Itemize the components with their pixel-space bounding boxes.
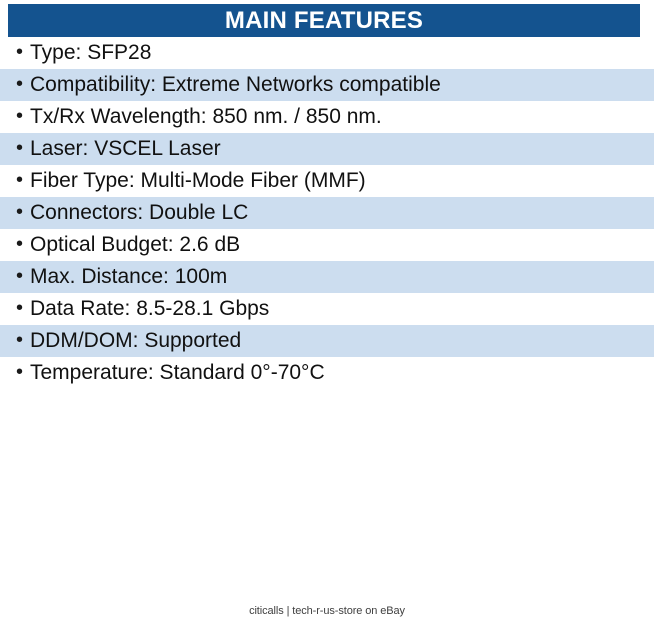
bullet-icon: • xyxy=(16,202,30,222)
feature-row-label: Temperature: Standard 0°-70°C xyxy=(30,361,325,385)
bullet-icon: • xyxy=(16,74,30,94)
feature-row-label: Laser: VSCEL Laser xyxy=(30,137,221,161)
bullet-icon: • xyxy=(16,362,30,382)
feature-row-label: Connectors: Double LC xyxy=(30,201,248,225)
feature-row: •Fiber Type: Multi-Mode Fiber (MMF) xyxy=(0,165,654,197)
bullet-icon: • xyxy=(16,106,30,126)
footer-store-credit: citicalls | tech-r-us-store on eBay xyxy=(249,604,405,618)
features-sheet: MAIN FEATURES •Type: SFP28•Compatibility… xyxy=(0,0,654,625)
page-title: MAIN FEATURES xyxy=(225,9,423,33)
bullet-icon: • xyxy=(16,266,30,286)
bullet-icon: • xyxy=(16,170,30,190)
feature-row: •Optical Budget: 2.6 dB xyxy=(0,229,654,261)
feature-row-label: Compatibility: Extreme Networks compatib… xyxy=(30,73,441,97)
bullet-icon: • xyxy=(16,298,30,318)
feature-row-label: Max. Distance: 100m xyxy=(30,265,227,289)
feature-row: •Laser: VSCEL Laser xyxy=(0,133,654,165)
bullet-icon: • xyxy=(16,330,30,350)
feature-row: •Compatibility: Extreme Networks compati… xyxy=(0,69,654,101)
feature-row-label: Fiber Type: Multi-Mode Fiber (MMF) xyxy=(30,169,366,193)
feature-row-label: Data Rate: 8.5-28.1 Gbps xyxy=(30,297,269,321)
features-list: •Type: SFP28•Compatibility: Extreme Netw… xyxy=(0,37,654,389)
footer: citicalls | tech-r-us-store on eBay xyxy=(0,601,654,619)
bullet-icon: • xyxy=(16,234,30,254)
bullet-icon: • xyxy=(16,138,30,158)
feature-row-label: Type: SFP28 xyxy=(30,41,151,65)
bullet-icon: • xyxy=(16,42,30,62)
feature-row-label: Optical Budget: 2.6 dB xyxy=(30,233,240,257)
feature-row-label: Tx/Rx Wavelength: 850 nm. / 850 nm. xyxy=(30,105,382,129)
feature-row: •Type: SFP28 xyxy=(0,37,654,69)
feature-row: •DDM/DOM: Supported xyxy=(0,325,654,357)
feature-row: •Connectors: Double LC xyxy=(0,197,654,229)
feature-row: •Tx/Rx Wavelength: 850 nm. / 850 nm. xyxy=(0,101,654,133)
feature-row: •Max. Distance: 100m xyxy=(0,261,654,293)
feature-row: •Data Rate: 8.5-28.1 Gbps xyxy=(0,293,654,325)
main-features-header-bar: MAIN FEATURES xyxy=(8,4,640,37)
feature-row: •Temperature: Standard 0°-70°C xyxy=(0,357,654,389)
feature-row-label: DDM/DOM: Supported xyxy=(30,329,241,353)
